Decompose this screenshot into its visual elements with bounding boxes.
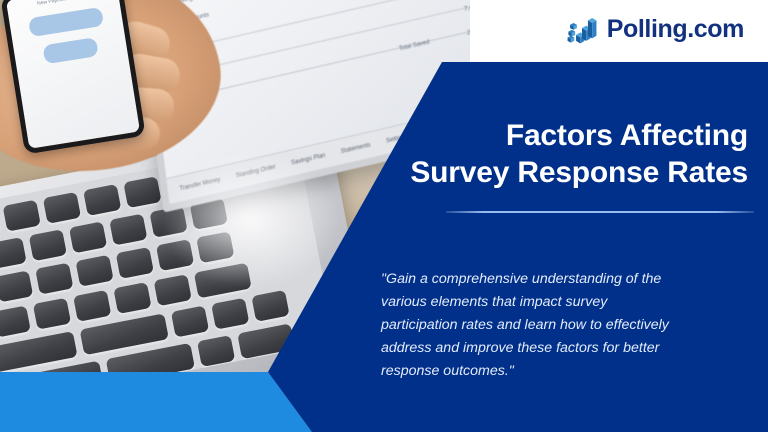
hero-quote: "Gain a comprehensive understanding of t… bbox=[381, 268, 681, 383]
title-line-2: Survey Response Rates bbox=[410, 156, 748, 189]
screen-total-label: Total Saved bbox=[399, 39, 430, 52]
title-divider bbox=[446, 211, 754, 213]
page-title: Factors Affecting Survey Response Rates bbox=[328, 118, 748, 191]
phone-approve-button bbox=[28, 7, 104, 37]
screen-glare bbox=[160, 150, 340, 290]
smartphone: New Payment Request bbox=[0, 0, 146, 155]
screen-total-value: 7,410.20 bbox=[464, 2, 470, 13]
brand-logo[interactable]: Polling.com bbox=[565, 12, 744, 46]
title-line-1: Factors Affecting bbox=[506, 119, 748, 152]
phone-cancel-button bbox=[42, 37, 98, 64]
screen-total-value: 27,965.87 bbox=[467, 25, 470, 37]
phone-header: New Payment Request bbox=[7, 0, 119, 12]
bar-chart-3d-icon bbox=[565, 12, 599, 46]
slide-canvas: Cash Withdrawal -120.00 21.05.2019 Debit… bbox=[0, 0, 768, 432]
logo-wordmark: Polling.com bbox=[607, 17, 744, 42]
